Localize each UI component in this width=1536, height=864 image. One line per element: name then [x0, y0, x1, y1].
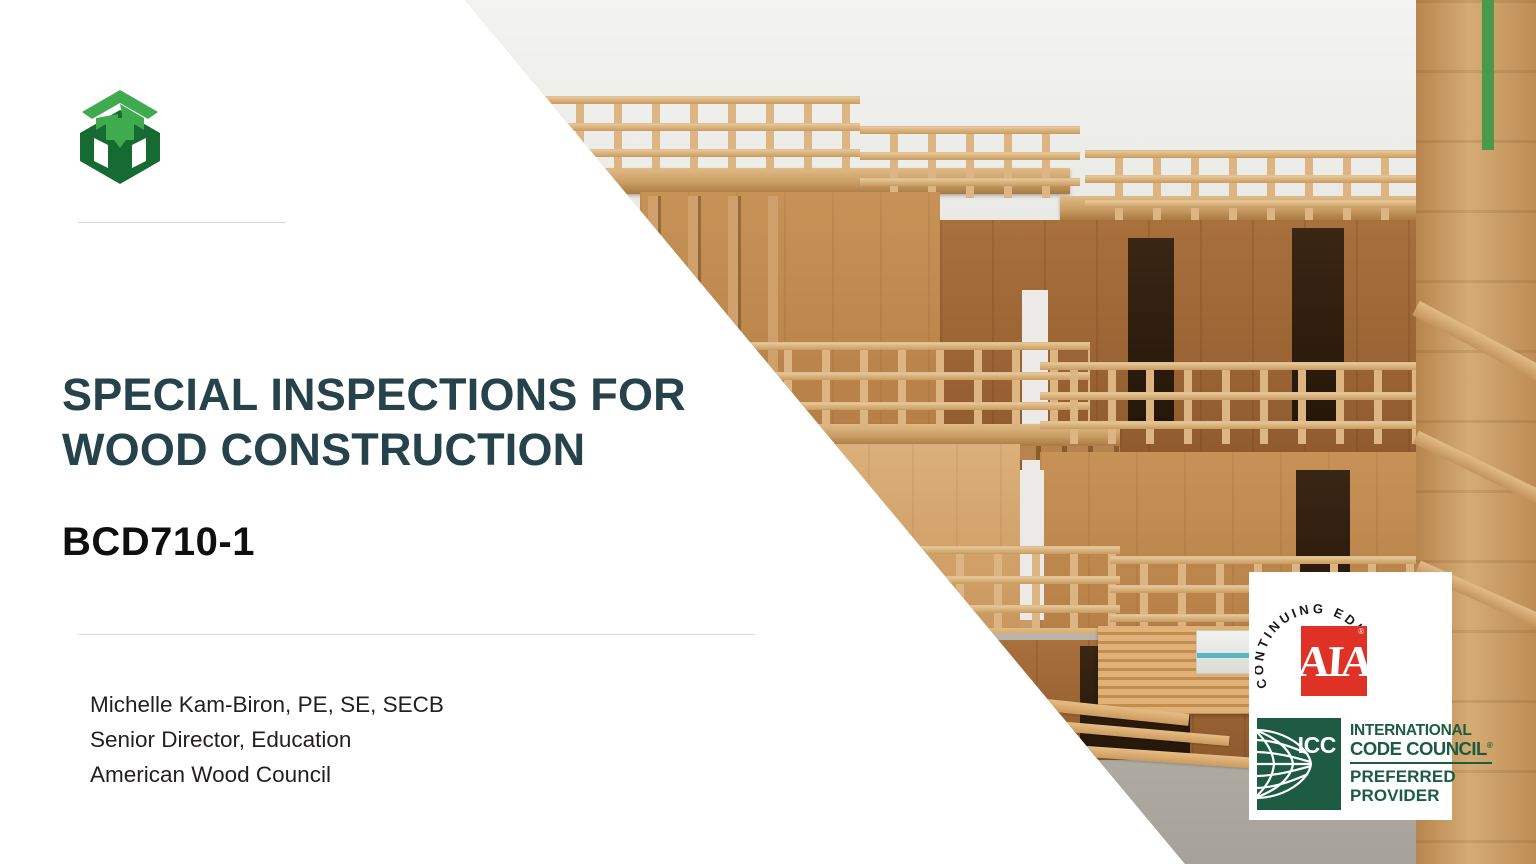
presenter-name: Michelle Kam-Biron, PE, SE, SECB	[90, 690, 730, 720]
icc-line-preferred: PREFERRED	[1350, 768, 1492, 787]
icc-preferred-provider-logo: ICC INTERNATIONAL CODE COUNCIL® PREFERRE…	[1257, 718, 1447, 810]
icc-line-provider: PROVIDER	[1350, 787, 1492, 806]
accreditation-badge: CONTINUING EDUCATION ® AIA	[1249, 572, 1452, 820]
divider-top	[78, 222, 285, 223]
aia-registered-mark: ®	[1358, 628, 1364, 636]
presenter-organization: American Wood Council	[90, 760, 730, 790]
presentation-title-slide: SPECIAL INSPECTIONS FOR WOOD CONSTRUCTIO…	[0, 0, 1536, 864]
icc-letters: ICC	[1298, 732, 1336, 759]
icc-code-council-text: CODE COUNCIL	[1350, 738, 1487, 759]
icc-wordmark: INTERNATIONAL CODE COUNCIL® PREFERRED PR…	[1341, 718, 1492, 810]
page-title: SPECIAL INSPECTIONS FOR WOOD CONSTRUCTIO…	[62, 368, 782, 478]
course-code: BCD710-1	[62, 520, 782, 565]
roof-guardrail-mid	[860, 126, 1080, 198]
presenter-title: Senior Director, Education	[90, 725, 730, 755]
aia-mark: ® AIA	[1301, 626, 1367, 696]
material-carton-upper	[840, 596, 904, 630]
presenter-byline: Michelle Kam-Biron, PE, SE, SECB Senior …	[90, 690, 730, 795]
icc-mark: ICC	[1257, 718, 1341, 810]
aia-continuing-education-logo: CONTINUING EDUCATION ® AIA	[1255, 586, 1377, 710]
icc-registered-mark: ®	[1487, 741, 1492, 750]
green-sheathing-strip	[1482, 0, 1494, 150]
divider-bottom	[78, 634, 755, 635]
roof-guardrail-left	[470, 96, 860, 170]
title-block: SPECIAL INSPECTIONS FOR WOOD CONSTRUCTIO…	[62, 368, 782, 565]
american-wood-council-logo	[78, 88, 162, 184]
icc-line-international: INTERNATIONAL	[1350, 723, 1492, 739]
aia-letters: AIA	[1301, 640, 1367, 684]
icc-line-code-council: CODE COUNCIL®	[1350, 739, 1492, 758]
icc-divider-rule	[1350, 762, 1492, 764]
